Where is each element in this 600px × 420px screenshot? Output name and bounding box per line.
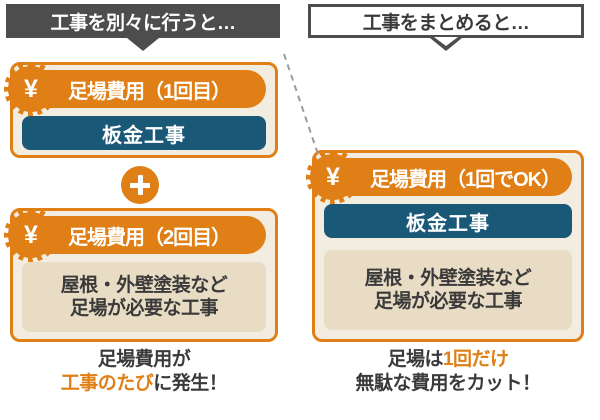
dashed-connector-icon xyxy=(282,52,322,162)
right-caption-accent: 1回だけ xyxy=(443,349,509,370)
left-scaffold-cost-2-pill: 足場費用（2回目） xyxy=(22,216,266,254)
yen-badge-icon: ¥ xyxy=(8,66,54,112)
left-caption-accent: 工事のたび xyxy=(61,373,154,394)
right-scaffold-required-work-line2: 足場が必要な工事 xyxy=(374,290,522,313)
header-banner-combined: 工事をまとめると… xyxy=(308,4,584,38)
left-scaffold-required-work-box: 屋根・外壁塗装など 足場が必要な工事 xyxy=(22,262,266,332)
header-banner-separate-pointer xyxy=(127,38,159,51)
plus-icon xyxy=(121,166,159,204)
header-banner-combined-pointer-inner xyxy=(434,37,458,46)
left-caption-line2-rest: に発生！ xyxy=(153,373,227,394)
left-sheetmetal-work-label: 板金工事 xyxy=(102,119,186,148)
header-banner-separate: 工事を別々に行うと… xyxy=(6,4,280,38)
right-scaffold-cost-label: 足場費用（1回でOK） xyxy=(370,163,560,192)
left-scaffold-cost-1-label: 足場費用（1回目） xyxy=(68,75,230,104)
right-scaffold-required-work-line1: 屋根・外壁塗装など xyxy=(365,267,532,290)
right-caption-line1: 足場は1回だけ xyxy=(312,348,584,372)
left-scaffold-cost-2-label: 足場費用（2回目） xyxy=(68,221,230,250)
right-caption-line1-pre: 足場は xyxy=(387,349,443,370)
left-sheetmetal-work-bar: 板金工事 xyxy=(22,116,266,150)
yen-badge-icon: ¥ xyxy=(8,212,54,258)
diagram-canvas: 工事を別々に行うと… 工事をまとめると… 足場費用（1回目） ¥ 板金工事 足場… xyxy=(0,0,600,420)
header-banner-combined-label: 工事をまとめると… xyxy=(363,8,530,35)
left-caption-line2: 工事のたびに発生！ xyxy=(10,372,278,396)
yen-badge-icon: ¥ xyxy=(310,154,356,200)
left-caption-line1: 足場費用が xyxy=(10,348,278,372)
left-scaffold-cost-1-pill: 足場費用（1回目） xyxy=(22,70,266,108)
right-sheetmetal-work-label: 板金工事 xyxy=(406,207,490,236)
right-caption: 足場は1回だけ 無駄な費用をカット！ xyxy=(312,348,584,397)
header-banner-separate-label: 工事を別々に行うと… xyxy=(50,8,235,35)
left-scaffold-required-work-line1: 屋根・外壁塗装など xyxy=(61,274,228,297)
right-scaffold-required-work-box: 屋根・外壁塗装など 足場が必要な工事 xyxy=(324,250,572,330)
right-sheetmetal-work-bar: 板金工事 xyxy=(324,204,572,238)
left-scaffold-required-work-line2: 足場が必要な工事 xyxy=(70,297,218,320)
left-caption: 足場費用が 工事のたびに発生！ xyxy=(10,348,278,397)
right-scaffold-cost-pill: 足場費用（1回でOK） xyxy=(324,158,572,196)
right-caption-line2: 無駄な費用をカット！ xyxy=(312,372,584,396)
